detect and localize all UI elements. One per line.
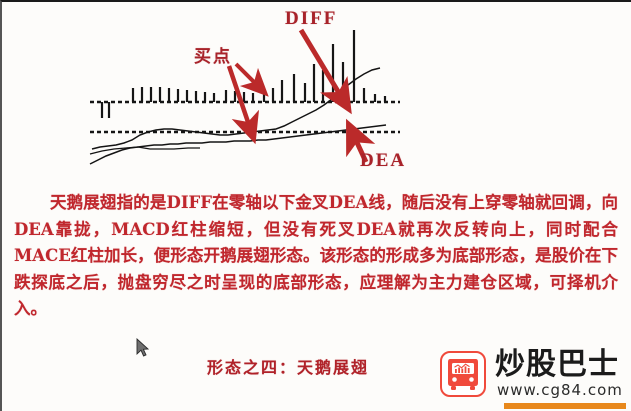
logo-url-text[interactable]: www.cg84.com	[497, 381, 623, 399]
screenshot-root: DIFF DEA 买点 天鹅展翅指的是DIFF在零轴以下金叉DEA线，随后没有上…	[0, 0, 631, 411]
diff-arrow	[301, 30, 342, 98]
figure-caption: 形态之四：天鹅展翅	[207, 354, 369, 378]
description-paragraph: 天鹅展翅指的是DIFF在零轴以下金叉DEA线，随后没有上穿零轴就回调，向DEA靠…	[14, 190, 618, 323]
macd-chart: DIFF DEA 买点	[2, 2, 631, 184]
logo-accent-bar	[504, 403, 626, 409]
secondary-trend-line	[90, 147, 200, 154]
bus-icon	[445, 355, 481, 393]
mouse-pointer-icon	[136, 338, 150, 358]
dea-annotation-label: DEA	[360, 150, 406, 172]
diff-annotation-label: DIFF	[285, 8, 337, 30]
logo-brand-text: 炒股巴士	[495, 348, 619, 382]
buy-point-annotation-label: 买点	[194, 42, 232, 67]
site-logo[interactable]: 炒股巴士 www.cg84.com	[440, 351, 626, 407]
